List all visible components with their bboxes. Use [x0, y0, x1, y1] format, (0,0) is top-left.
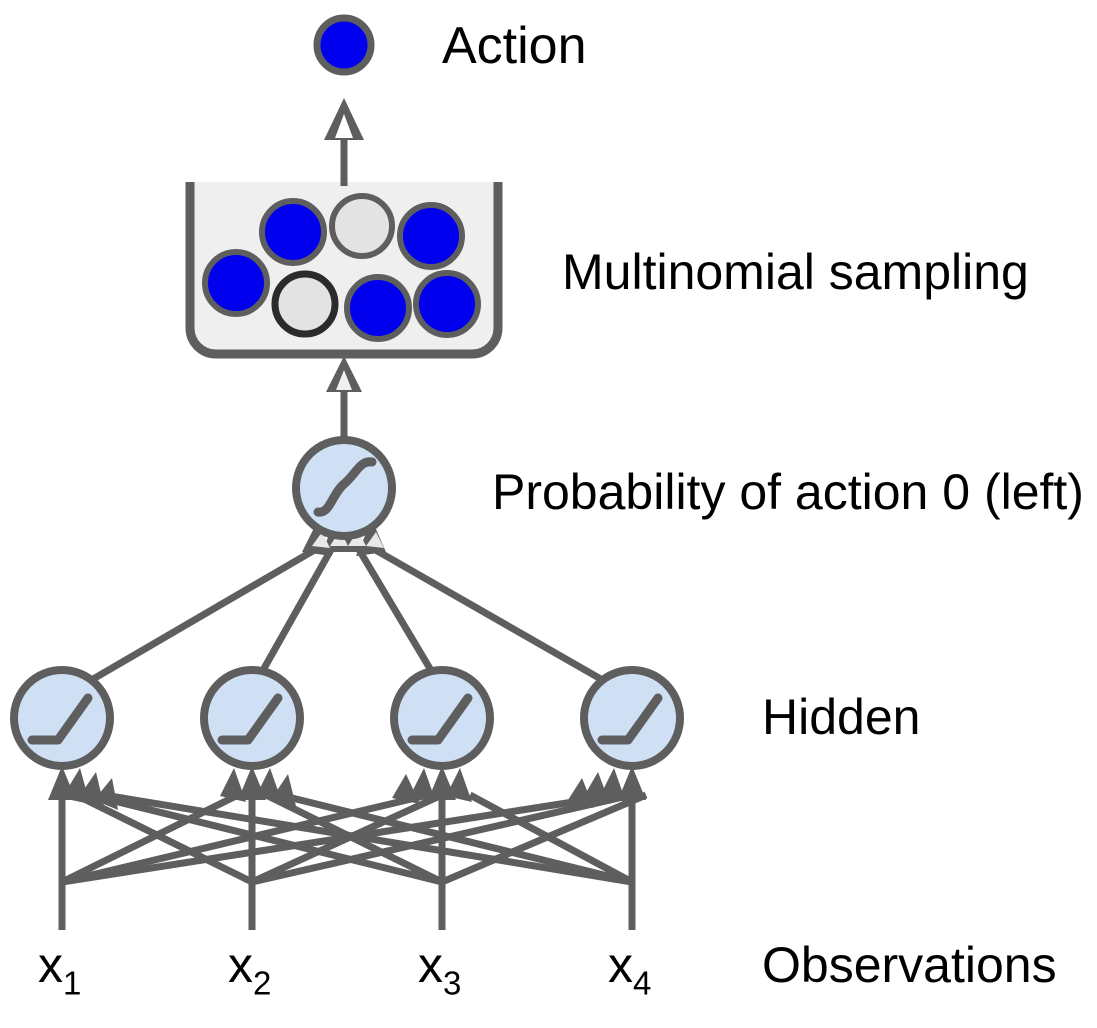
hidden-node-4[interactable] [584, 670, 680, 766]
box-to-action-arrow [324, 98, 364, 186]
action-node-circle [317, 18, 371, 72]
ball-blue-4 [347, 277, 409, 339]
input-var-subscript: 1 [63, 965, 81, 1002]
hidden-node-2-circle [204, 670, 300, 766]
hidden-to-output-edges [88, 548, 606, 682]
ball-blue-5 [416, 273, 478, 335]
input-var-subscript: 4 [633, 965, 651, 1002]
hidden-node-3[interactable] [394, 670, 490, 766]
input-label-x4: x4 [608, 936, 651, 1003]
label-hidden-layer: Hidden [762, 688, 920, 746]
input-var-name: x [228, 937, 253, 993]
ball-gray-2 [275, 274, 335, 334]
arrowhead-h2-b [220, 768, 246, 802]
label-action: Action [442, 16, 587, 76]
hidden-node-3-circle [394, 670, 490, 766]
ball-blue-3 [205, 252, 267, 314]
hidden-node-1[interactable] [14, 670, 110, 766]
input-label-x3: x3 [418, 936, 461, 1003]
diagram-canvas: Action Multinomial sampling Probability … [0, 0, 1097, 1028]
input-var-subscript: 3 [443, 965, 461, 1002]
input-var-name: x [608, 937, 633, 993]
edge-h4-out [372, 548, 606, 682]
hidden-node-2[interactable] [204, 670, 300, 766]
input-label-x1: x1 [38, 936, 81, 1003]
hidden-node-1-circle [14, 670, 110, 766]
input-label-x2: x2 [228, 936, 271, 1003]
hidden-node-4-circle [584, 670, 680, 766]
label-multinomial-sampling: Multinomial sampling [562, 243, 1029, 301]
edge-h2-out [262, 548, 332, 672]
ball-blue-2 [400, 205, 462, 267]
edge-h1-out [88, 548, 318, 682]
label-probability-of-action: Probability of action 0 (left) [492, 463, 1084, 521]
output-sigmoid-node[interactable] [296, 440, 392, 536]
edge-h3-out [358, 548, 432, 672]
input-var-name: x [38, 937, 63, 993]
ball-blue-1 [262, 201, 324, 263]
label-observations: Observations [762, 936, 1057, 994]
sigmoid-to-box-arrow [326, 356, 362, 440]
input-to-hidden-edges [62, 795, 646, 882]
input-var-name: x [418, 937, 443, 993]
input-var-subscript: 2 [253, 965, 271, 1002]
ball-gray-1 [332, 196, 392, 256]
